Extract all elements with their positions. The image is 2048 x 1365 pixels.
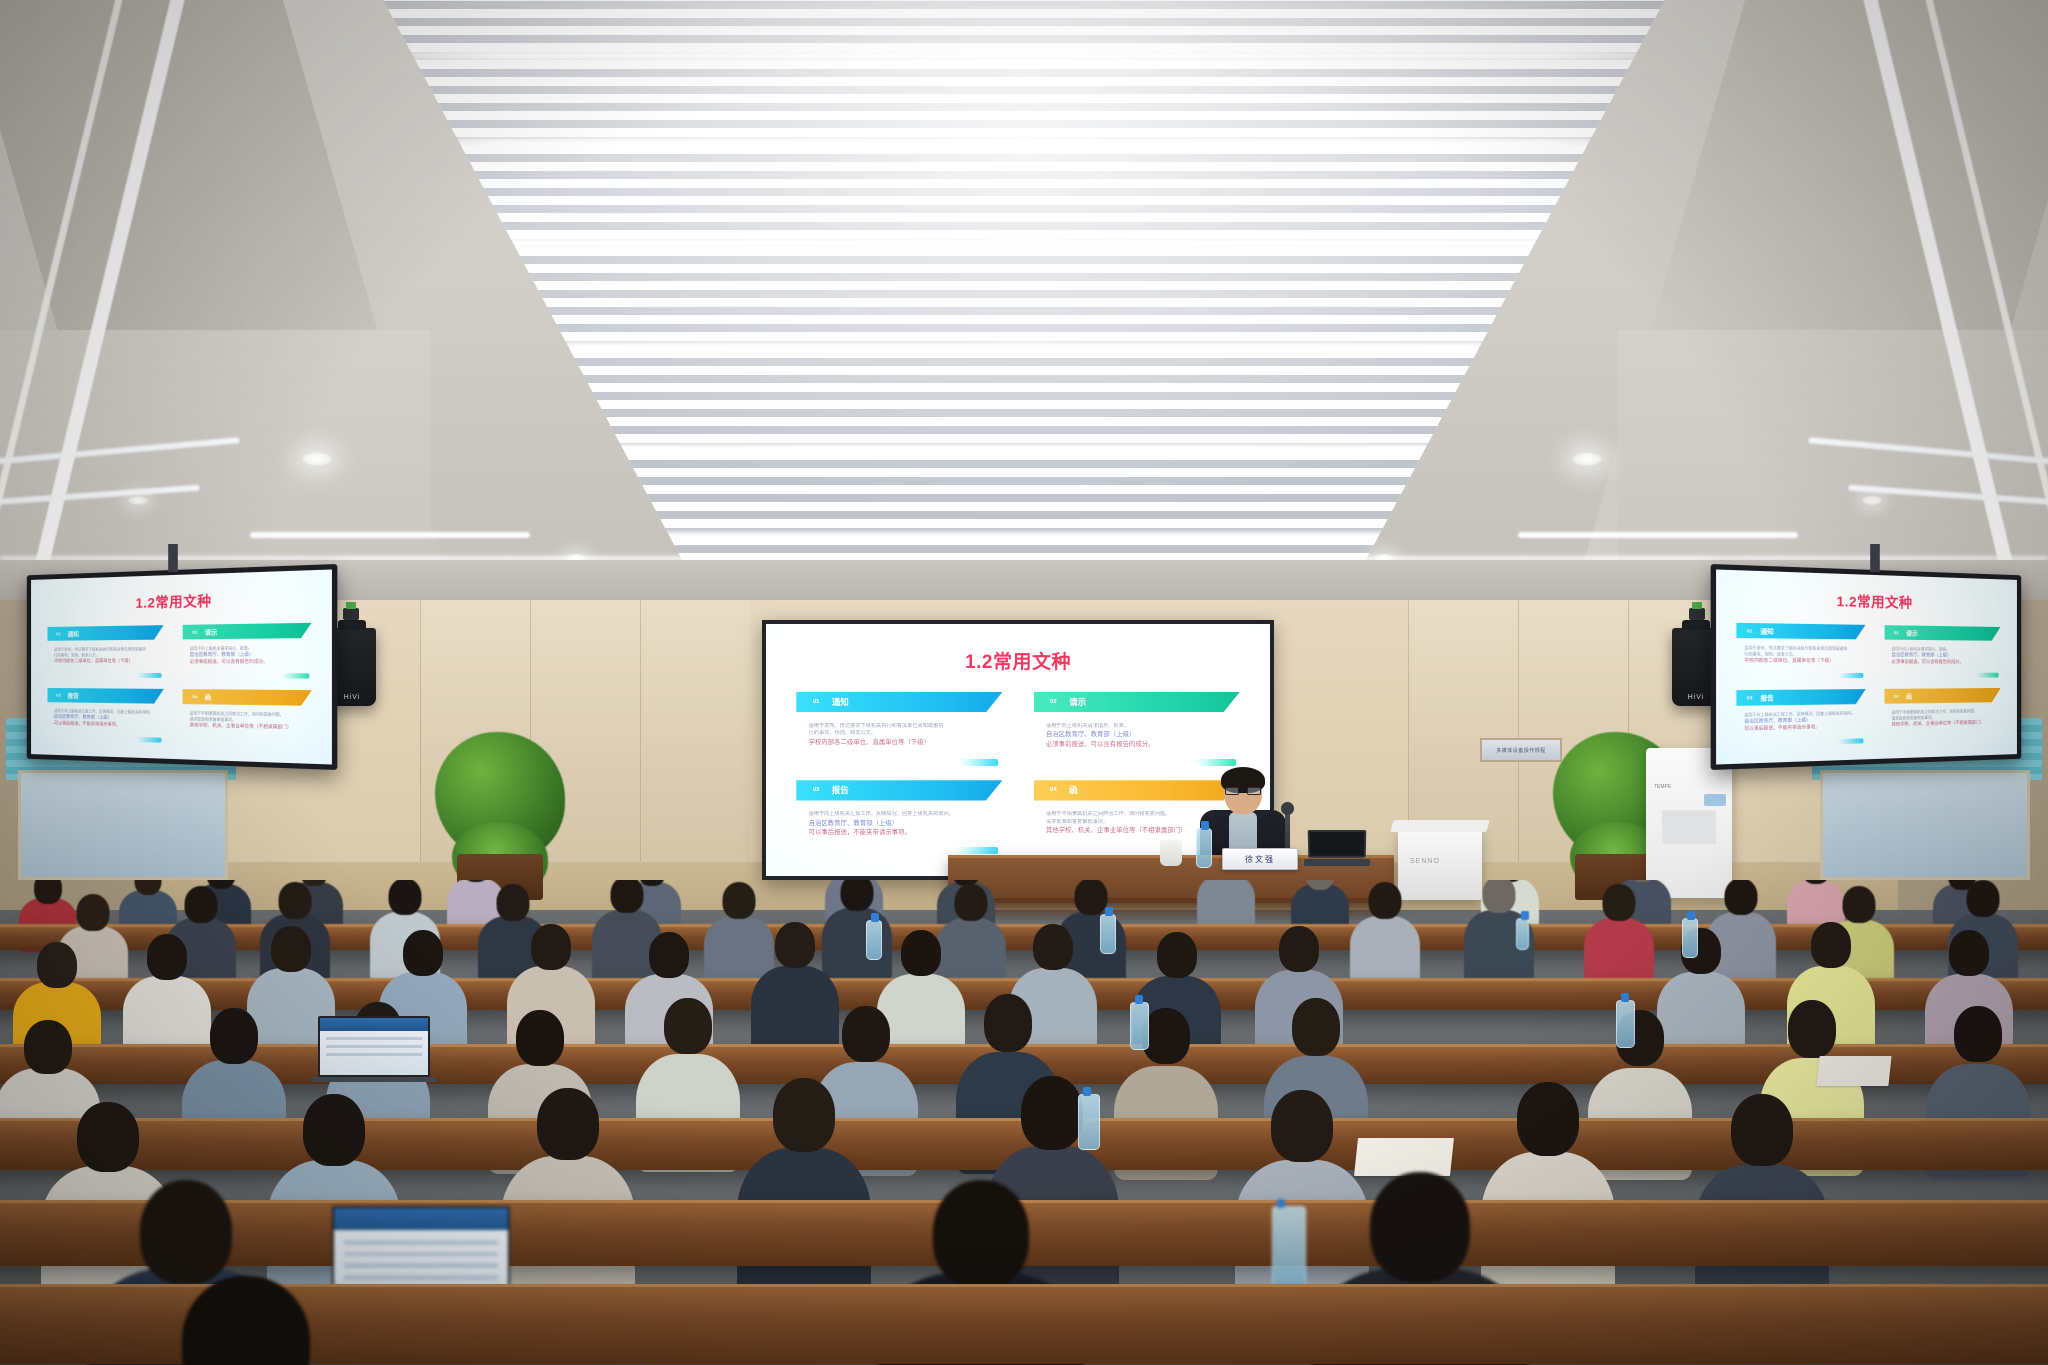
card-heading: 报告	[1752, 693, 1773, 703]
person-head	[77, 894, 110, 931]
card-band: 01 通知	[796, 692, 1002, 712]
card-band: 03 报告	[1736, 689, 1866, 706]
slide-card-01: 01 通知 适用于发布、传达要求下级机关执行和有关单位周知或者执 行的事项、规则…	[1736, 622, 1866, 682]
card-band: 01 通知	[47, 625, 163, 641]
card-number: 04	[1034, 787, 1057, 793]
card-accent-tab	[957, 759, 998, 766]
card-number: 02	[1884, 630, 1899, 635]
slide-canvas: 1.2常用文种 01 通知 适用于发布、传达要求下级机关执行和有关单位周知或者执…	[766, 624, 1270, 876]
card-body: 适用于向上级机关请求指示、批准。 自治区教育厅、教育部（上级） 必须事前报送，可…	[1034, 712, 1240, 749]
person-head	[664, 998, 712, 1054]
recessed-downlight	[1572, 452, 1602, 466]
person-head	[775, 922, 815, 968]
linear-ceiling-light	[1518, 532, 1798, 538]
laptop-app-toolbar	[320, 1018, 428, 1031]
person-head	[1142, 1008, 1190, 1064]
card-number: 02	[1034, 699, 1057, 705]
slide-card-04: 04 函 适用于不相隶属机关之间商洽工作、询问和答复问题。 请求批准和答复审批事…	[1884, 688, 2000, 746]
person-head	[185, 886, 218, 923]
card-line: 行的事项、规则、转发公文。	[809, 730, 999, 738]
card-line-emphasis: 学校内部各二级单位、直属单位等（下级）	[54, 658, 161, 665]
card-heading: 函	[1057, 784, 1078, 796]
water-bottle	[1272, 1206, 1306, 1290]
card-body: 适用于向上级机关汇报工作、反映情况、回复上级机关的询问。 自治区教育厅、教育部（…	[796, 801, 1002, 838]
card-body: 适用于不相隶属机关之间商洽工作、询问和答复问题。 请求批准和答复审批事项。 其他…	[1884, 702, 2000, 729]
person-head	[901, 930, 941, 976]
person-head	[984, 994, 1032, 1052]
card-line: 必须事前报送，可以含有报告的成分。	[1046, 740, 1236, 750]
card-accent-tab	[957, 847, 998, 854]
slide-title: 1.2常用文种	[1716, 587, 2017, 614]
card-line: 可以事后报送，不能夹带请示事项。	[54, 720, 161, 729]
lecture-hall-photo: 多媒体设备操作规程 TEMPE HiVi HiVi 1.2常用文种 01	[0, 0, 2048, 1365]
card-body: 适用于向上级机关汇报工作、反映情况、回复上级机关的询问。 自治区教育厅、教育部（…	[47, 702, 163, 730]
person-head	[723, 882, 756, 919]
window-left	[18, 770, 228, 880]
card-accent-tab	[1976, 673, 1999, 678]
laptop-app-toolbar	[334, 1208, 508, 1230]
wall-plaque-text: 多媒体设备操作规程	[1496, 747, 1546, 754]
slide-card-03: 03 报告 适用于向上级机关汇报工作、反映情况、回复上级机关的询问。 自治区教育…	[796, 780, 1002, 858]
paper-sheet	[1354, 1138, 1454, 1176]
tv-screen-right: 1.2常用文种 01 通知 适用于发布、传达要求下级机关执行和有关单位周知或者执…	[1716, 569, 2017, 764]
person-head	[955, 884, 988, 921]
audience-member	[1352, 882, 1418, 974]
linear-ceiling-light	[250, 532, 530, 538]
recessed-downlight	[1862, 496, 1882, 505]
person-head	[1370, 1172, 1470, 1282]
card-body: 适用于不相隶属机关之间商洽工作、询问和答复问题。 请求批准和答复审批事项。 其他…	[182, 704, 312, 732]
slide-card-03: 03 报告 适用于向上级机关汇报工作、反映情况、回复上级机关的询问。 自治区教育…	[47, 688, 163, 746]
card-accent-tab	[1194, 759, 1235, 766]
window-right	[1820, 770, 2030, 880]
card-number: 03	[1736, 695, 1752, 700]
card-number: 04	[182, 694, 197, 699]
light-haze	[274, 0, 1774, 582]
card-line-emphasis: 自治区教育厅、教育部（上级）	[1891, 652, 1998, 659]
card-line: 必须事前报送，可以含有报告的成分。	[190, 658, 309, 665]
card-heading: 报告	[61, 691, 79, 700]
card-body: 适用于向上级机关请求指示、批准。 自治区教育厅、教育部（上级） 必须事前报送，可…	[182, 638, 312, 665]
person-head	[1811, 922, 1851, 968]
person-head	[303, 1094, 365, 1166]
person-head	[1369, 882, 1402, 919]
water-bottle	[1100, 914, 1116, 954]
card-band: 02 请示	[182, 622, 312, 639]
person-head	[1843, 886, 1876, 923]
slide-card-01: 01 通知 适用于发布、传达要求下级机关执行和有关单位周知或者执 行的事项、规则…	[796, 692, 1002, 770]
ac-brand-label: TEMPE	[1654, 784, 1671, 790]
person-head	[611, 880, 644, 913]
person-head	[537, 1088, 599, 1160]
person-head	[279, 882, 312, 919]
slide-title: 1.2常用文种	[766, 647, 1270, 674]
card-accent-tab	[137, 673, 161, 678]
lectern-brand-label: SENNO	[1410, 858, 1440, 865]
person-head	[77, 1102, 139, 1172]
presenter-nameplate-text: 徐文强	[1245, 854, 1275, 865]
water-bottle-stage	[1196, 828, 1212, 868]
tv-screen-left: 1.2常用文种 01 通知 适用于发布、传达要求下级机关执行和有关单位周知或者执…	[31, 569, 332, 764]
ceiling	[0, 0, 2048, 600]
card-heading: 函	[197, 692, 211, 701]
card-line-emphasis: 学校内部各二级单位、直属单位等（下级）	[809, 738, 999, 748]
card-band: 03 报告	[796, 780, 1002, 800]
card-line: 适用于向上级机关汇报工作、反映情况、回复上级机关的询问。	[809, 811, 999, 819]
person-head	[1157, 932, 1197, 978]
person-head	[182, 1276, 310, 1365]
person-head	[1603, 884, 1636, 921]
card-number: 03	[796, 787, 819, 793]
person-head	[24, 1020, 72, 1074]
lectern-top	[1390, 820, 1490, 832]
slide-card-03: 03 报告 适用于向上级机关汇报工作、反映情况、回复上级机关的询问。 自治区教育…	[1736, 689, 1866, 750]
person-head	[140, 1180, 232, 1284]
slide-card-grid: 01 通知 适用于发布、传达要求下级机关执行和有关单位周知或者执 行的事项、规则…	[1736, 622, 2001, 750]
person-head	[1483, 880, 1516, 913]
tv-mount	[168, 544, 178, 572]
audience-member	[1586, 884, 1652, 976]
card-accent-tab	[1838, 738, 1863, 744]
wall-tv-left: 1.2常用文种 01 通知 适用于发布、传达要求下级机关执行和有关单位周知或者执…	[27, 564, 338, 770]
person-head	[1021, 1076, 1083, 1150]
slide-card-02: 02 请示 适用于向上级机关请求指示、批准。 自治区教育厅、教育部（上级） 必须…	[182, 622, 312, 682]
audience-laptop	[318, 1016, 430, 1082]
card-body: 适用于向上级机关汇报工作、反映情况、回复上级机关的询问。 自治区教育厅、教育部（…	[1736, 704, 1866, 733]
person-head	[1967, 880, 2000, 917]
slide-card-02: 02 请示 适用于向上级机关请求指示、批准。 自治区教育厅、教育部（上级） 必须…	[1034, 692, 1240, 770]
card-line-emphasis: 学校内部各二级单位、直属单位等（下级）	[1744, 657, 1863, 664]
person-head	[1517, 1082, 1579, 1156]
card-line-emphasis: 自治区教育厅、教育部（上级）	[809, 819, 999, 829]
laptop-screen	[318, 1016, 430, 1077]
card-heading: 通知	[819, 696, 848, 708]
person-head	[1271, 1090, 1333, 1162]
presenter-laptop	[1308, 830, 1366, 866]
person-head	[1033, 924, 1073, 970]
security-camera-right	[1689, 608, 1705, 620]
card-heading: 报告	[819, 784, 848, 796]
card-line: 可以事后报送，不能夹带请示事项。	[809, 828, 999, 838]
person-head	[531, 924, 571, 970]
card-heading: 通知	[1752, 626, 1773, 636]
air-conditioner-unit: TEMPE	[1646, 748, 1732, 898]
card-heading: 请示	[197, 627, 217, 636]
laptop-base	[311, 1077, 436, 1082]
card-line: 适用于发布、传达要求下级机关执行和有关单位周知或者执	[809, 723, 999, 731]
laptop-base	[1304, 859, 1370, 866]
card-line: 必须事前报送，可以含有报告的成分。	[1891, 659, 1998, 666]
card-heading: 通知	[61, 629, 79, 638]
card-line-emphasis: 自治区教育厅、教育部（上级）	[1046, 730, 1236, 740]
ac-vent	[1662, 810, 1716, 844]
person-head	[773, 1078, 835, 1152]
person-head	[271, 926, 311, 972]
audience-member	[116, 1276, 376, 1365]
person-head	[37, 942, 77, 988]
card-accent-tab	[1838, 673, 1863, 678]
person-head	[210, 1008, 258, 1064]
person-head	[933, 1180, 1029, 1288]
potted-plant-left	[430, 700, 570, 900]
card-body: 适用于向上级机关请求指示、批准。 自治区教育厅、教育部（上级） 必须事前报送，可…	[1884, 640, 2000, 666]
card-line-emphasis: 其他学校、机关、企事业单位等（不相隶属部门）	[190, 722, 309, 732]
security-camera-left	[343, 608, 359, 620]
slide-card-grid: 01 通知 适用于发布、传达要求下级机关执行和有关单位周知或者执 行的事项、规则…	[47, 622, 312, 750]
person-head	[516, 1010, 564, 1066]
person-head	[34, 880, 62, 904]
card-line-emphasis: 其他学校、机关、企事业单位等（不相隶属部门）	[1891, 719, 1998, 728]
water-bottle	[1516, 918, 1529, 950]
card-band: 02 请示	[1884, 625, 2000, 641]
card-number: 01	[1736, 628, 1752, 633]
person-head	[1788, 1000, 1836, 1058]
water-bottle	[1130, 1002, 1149, 1050]
audience-area	[0, 880, 2048, 1365]
card-accent-tab	[137, 737, 161, 743]
laptop-lid	[1308, 830, 1367, 858]
audience-member	[1198, 880, 1254, 926]
person-head	[842, 1006, 890, 1062]
card-line: 可以事后报送，不能夹带请示事项。	[1744, 723, 1863, 733]
paper-cup	[1160, 840, 1182, 866]
paper-sheet	[1816, 1056, 1891, 1086]
person-head	[1954, 1006, 2002, 1062]
card-heading: 请示	[1899, 628, 1918, 637]
ac-display-badge	[1704, 794, 1726, 806]
slide-title: 1.2常用文种	[31, 587, 332, 614]
card-body: 适用于发布、传达要求下级机关执行和有关单位周知或者执 行的事项、规则、转发公文。…	[796, 712, 1002, 748]
water-bottle	[866, 920, 882, 960]
central-light-well	[274, 0, 1774, 582]
water-bottle	[1078, 1094, 1100, 1150]
person-head	[403, 930, 443, 976]
person-head	[1949, 930, 1989, 976]
card-accent-tab	[282, 673, 309, 678]
card-heading: 请示	[1057, 696, 1086, 708]
slide-card-01: 01 通知 适用于发布、传达要求下级机关执行和有关单位周知或者执 行的事项、规则…	[47, 625, 163, 682]
person-head	[147, 934, 187, 980]
person-head	[649, 932, 689, 978]
recessed-downlight	[302, 452, 332, 466]
card-number: 02	[182, 629, 197, 634]
card-body: 适用于发布、传达要求下级机关执行和有关单位周知或者执 行的事项、规则、转发公文。…	[1736, 638, 1866, 664]
person-head	[1731, 1094, 1793, 1166]
card-line: 适用于向上级机关请求指示、批准。	[1046, 723, 1236, 731]
person-head	[497, 884, 530, 921]
person-head	[1279, 926, 1319, 972]
card-band: 02 请示	[1034, 692, 1240, 712]
presenter-nameplate: 徐文强	[1222, 848, 1298, 870]
card-number: 04	[1884, 694, 1899, 699]
tv-mount	[1870, 544, 1880, 572]
slide-card-04: 04 函 适用于不相隶属机关之间商洽工作、询问和答复问题。 请求批准和答复审批事…	[182, 689, 312, 750]
person-head	[1725, 880, 1758, 915]
person-head	[1075, 880, 1108, 915]
card-number: 01	[47, 631, 60, 636]
person-head	[1292, 998, 1340, 1056]
card-number: 03	[47, 693, 60, 698]
person-head	[389, 880, 422, 915]
card-band: 01 通知	[1736, 622, 1866, 639]
card-band: 03 报告	[47, 688, 163, 704]
card-number: 01	[796, 699, 819, 705]
person-head	[841, 880, 874, 911]
wall-tv-right: 1.2常用文种 01 通知 适用于发布、传达要求下级机关执行和有关单位周知或者执…	[1711, 564, 2022, 770]
card-heading: 函	[1899, 692, 1912, 701]
card-band: 04 函	[1884, 688, 2000, 704]
slide-card-grid: 01 通知 适用于发布、传达要求下级机关执行和有关单位周知或者执 行的事项、规则…	[796, 692, 1240, 858]
card-band: 04 函	[182, 689, 312, 706]
recessed-downlight	[128, 496, 148, 505]
glasses-icon	[1225, 787, 1261, 795]
water-bottle	[1616, 1000, 1635, 1048]
slide-card-02: 02 请示 适用于向上级机关请求指示、批准。 自治区教育厅、教育部（上级） 必须…	[1884, 625, 2000, 682]
card-body: 适用于发布、传达要求下级机关执行和有关单位周知或者执 行的事项、规则、转发公文。…	[47, 640, 163, 665]
water-bottle	[1682, 918, 1698, 958]
card-line: 适用于发布、传达要求下级机关执行和有关单位周知或者执	[54, 646, 161, 652]
